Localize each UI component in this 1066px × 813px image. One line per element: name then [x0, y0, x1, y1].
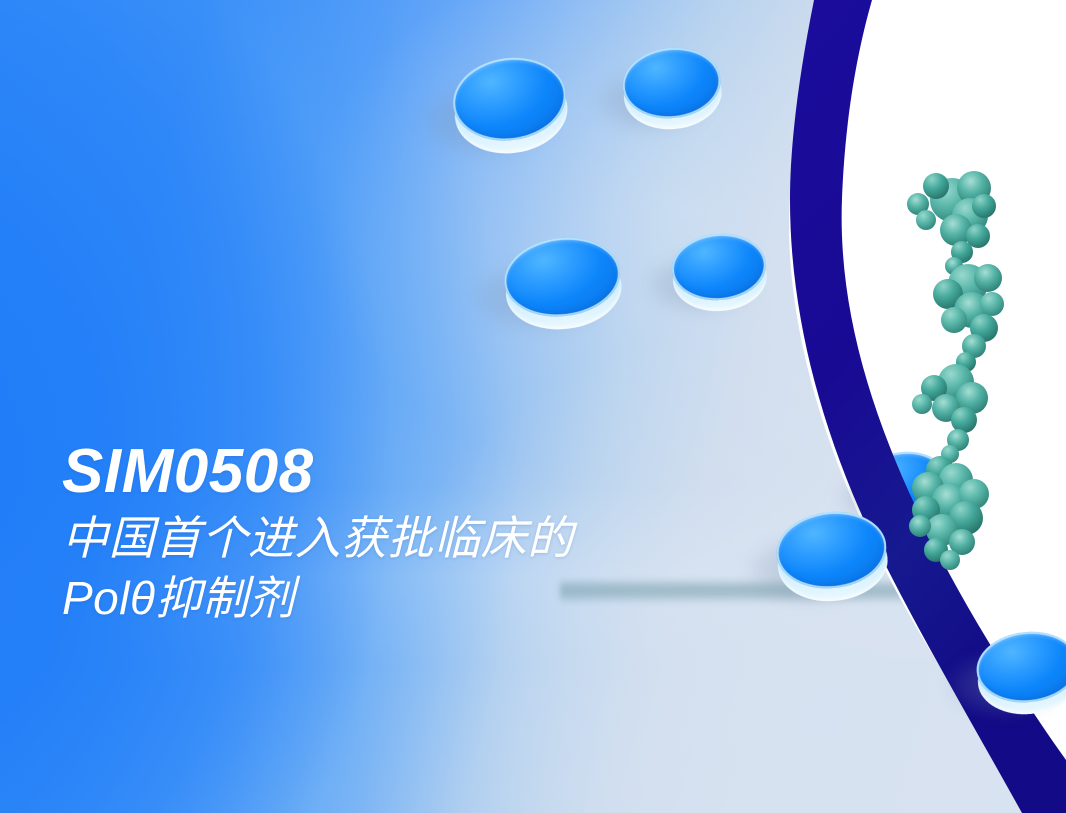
- protein-segment-1: [907, 171, 996, 248]
- subtitle-line-2: Polθ抑制剂: [62, 569, 574, 629]
- protein-segment-5: [912, 364, 988, 433]
- protein-segment-3: [933, 264, 1004, 342]
- protein-segment-6: [909, 429, 989, 570]
- banner-root: SIM0508 中国首个进入获批临床的 Polθ抑制剂: [0, 0, 1066, 813]
- product-name: SIM0508: [62, 440, 574, 503]
- subtitle-line-1: 中国首个进入获批临床的: [62, 509, 574, 569]
- headline-block: SIM0508 中国首个进入获批临床的 Polθ抑制剂: [62, 440, 574, 629]
- protein-structure-icon: [892, 158, 1052, 588]
